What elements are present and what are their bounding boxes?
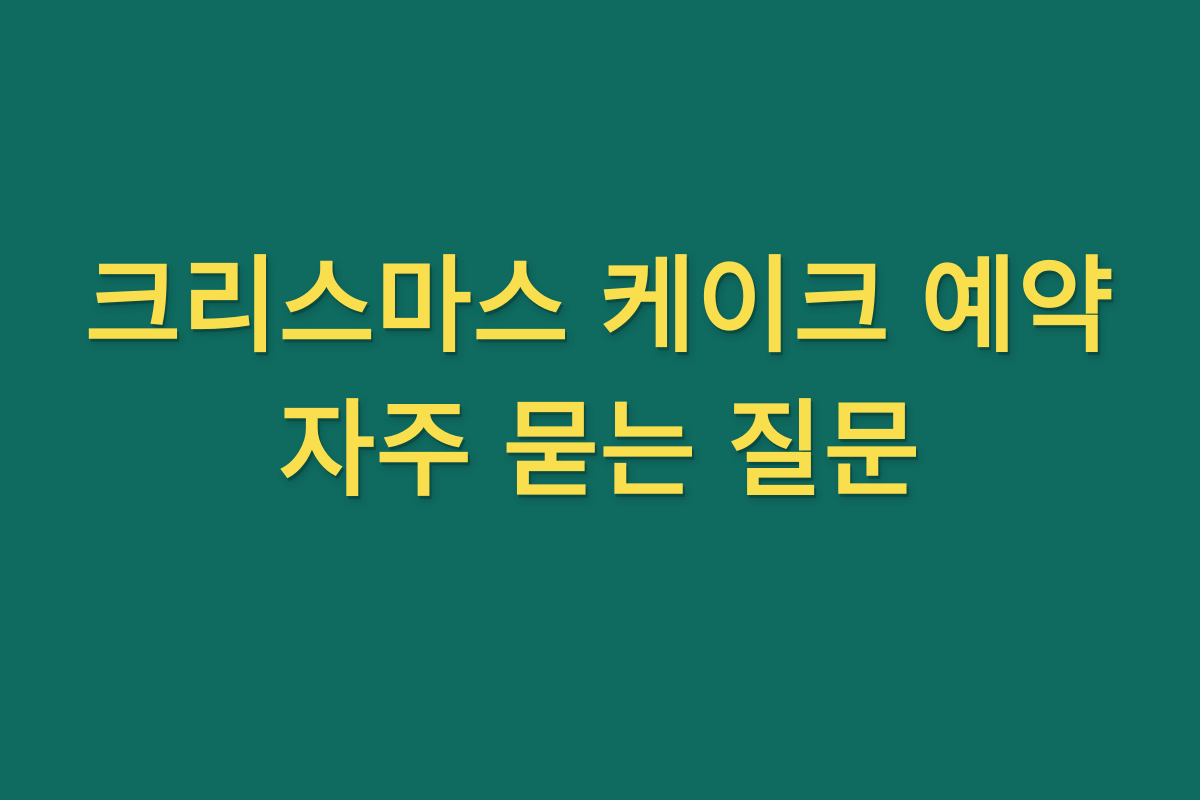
headline-line-2: 자주 묻는 질문 — [0, 380, 1200, 524]
banner-canvas: 크리스마스 케이크 예약 자주 묻는 질문 — [0, 0, 1200, 800]
headline-line-1: 크리스마스 케이크 예약 — [0, 236, 1200, 380]
headline-block: 크리스마스 케이크 예약 자주 묻는 질문 — [0, 236, 1200, 523]
